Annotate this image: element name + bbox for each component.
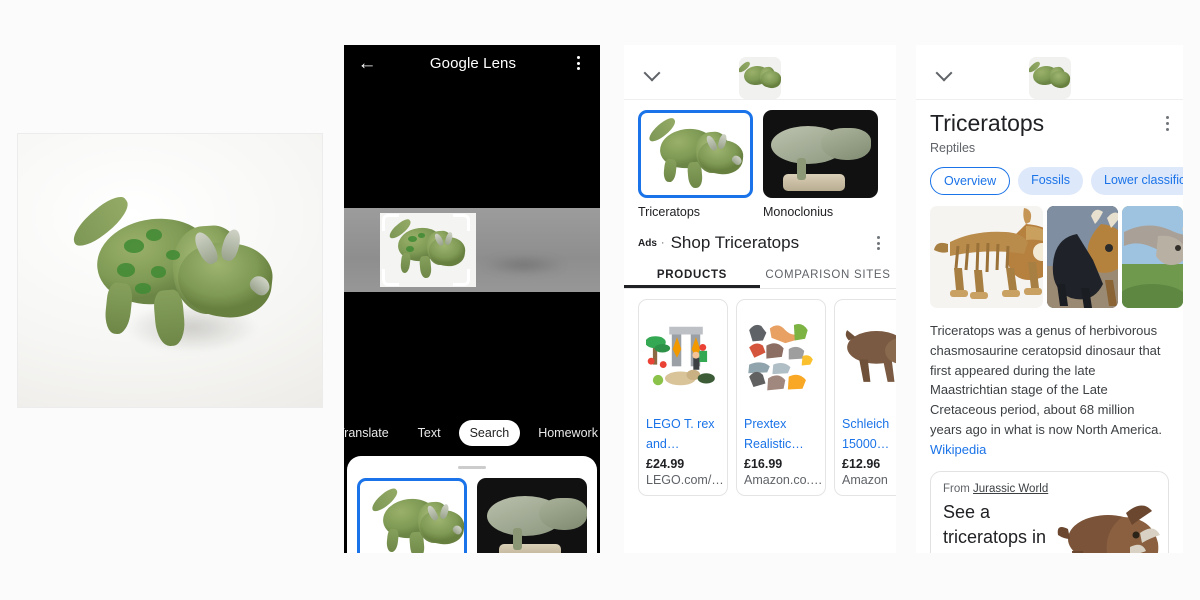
mode-homework[interactable]: Homework [527, 420, 600, 446]
lens-title-lens: Lens [479, 55, 516, 72]
dinosaur-figures-illustration [744, 310, 818, 402]
knowledge-header [916, 45, 1183, 100]
product-image-prextex [744, 308, 818, 404]
product-site: LEGO.com/… [646, 473, 720, 487]
product-site: Amazon [842, 473, 896, 487]
product-image-schleich [842, 308, 896, 404]
overflow-menu-icon[interactable] [877, 236, 882, 250]
chip-overview[interactable]: Overview [930, 167, 1010, 195]
overflow-menu-icon[interactable] [1166, 110, 1169, 131]
source-thumbnail[interactable] [1029, 57, 1071, 99]
ar-from-prefix: From [943, 483, 973, 495]
mode-text[interactable]: Text [407, 420, 452, 446]
screenshot-stage: ← Google Lens [0, 0, 1200, 600]
chevron-down-icon[interactable] [644, 65, 660, 81]
product-name[interactable]: LEGO T. rex and… [646, 414, 720, 454]
ar-promo-card[interactable]: From Jurassic World See a triceratops in… [930, 471, 1169, 553]
product-card[interactable]: LEGO T. rex and… £24.99 LEGO.com/… [638, 299, 728, 496]
lego-set-illustration [646, 310, 720, 402]
lens-title: Google Lens [378, 55, 568, 72]
shopping-title: Shop Triceratops [671, 233, 877, 253]
lens-mode-bar: Translate Text Search Homework Sh [344, 413, 600, 453]
lens-results-sheet [347, 456, 597, 553]
mode-translate[interactable]: Translate [344, 420, 400, 446]
tab-products[interactable]: PRODUCTS [624, 263, 760, 288]
source-photo [17, 133, 323, 408]
ads-badge: Ads [638, 238, 657, 249]
google-lens-screen: ← Google Lens [344, 45, 600, 553]
match-card-monoclonius[interactable]: Monoclonius [763, 110, 878, 219]
knowledge-panel: Triceratops Reptiles Overview Fossils Lo… [916, 45, 1183, 553]
overflow-menu-icon[interactable] [568, 56, 588, 70]
lens-top-bar: ← Google Lens [344, 45, 600, 81]
shopping-header: Ads · Shop Triceratops [624, 219, 896, 253]
product-carousel[interactable]: LEGO T. rex and… £24.99 LEGO.com/… [624, 289, 896, 496]
viewfinder-photo-band [344, 208, 600, 292]
sheet-result-triceratops[interactable] [357, 478, 467, 553]
image-triceratops-skeleton[interactable] [930, 206, 1043, 308]
description-text: Triceratops was a genus of herbivorous c… [930, 323, 1162, 437]
ar-card-headline: See a triceratops in your space [943, 500, 1063, 553]
product-card[interactable]: Schleich 15000… £12.96 Amazon [834, 299, 896, 496]
page-title: Triceratops [930, 110, 1044, 137]
source-thumbnail[interactable] [739, 57, 781, 99]
image-triceratops-illustration[interactable] [1047, 206, 1117, 308]
match-thumb-monoclonius [763, 110, 878, 198]
ar-triceratops-model [1056, 495, 1169, 553]
visual-match-cards: Triceratops Monoclonius [624, 100, 896, 219]
match-label-monoclonius: Monoclonius [763, 205, 878, 219]
sheet-result-cards [357, 478, 587, 553]
sheet-result-monoclonius[interactable] [477, 478, 587, 553]
knowledge-image-strip [916, 195, 1183, 308]
knowledge-subtitle: Reptiles [916, 137, 1183, 155]
ar-card-source: From Jurassic World [943, 483, 1156, 495]
viewfinder-shadow [464, 252, 584, 278]
product-price: £24.99 [646, 457, 720, 471]
tab-comparison-sites[interactable]: COMPARISON SITES [760, 263, 896, 288]
mode-search[interactable]: Search [459, 420, 521, 446]
chip-fossils[interactable]: Fossils [1018, 167, 1083, 195]
chevron-down-icon[interactable] [936, 65, 952, 81]
product-image-lego [646, 308, 720, 404]
ar-from-source: Jurassic World [973, 483, 1048, 495]
triceratops-thumb [366, 485, 467, 553]
product-name[interactable]: Prextex Realistic… [744, 414, 818, 454]
product-price: £16.99 [744, 457, 818, 471]
image-triceratops-landscape[interactable] [1122, 206, 1183, 308]
knowledge-title-row: Triceratops [916, 100, 1183, 137]
match-thumb-triceratops [638, 110, 753, 198]
object-selection-brackets[interactable] [382, 214, 470, 286]
product-price: £12.96 [842, 457, 896, 471]
shopping-tabs: PRODUCTS COMPARISON SITES [624, 263, 896, 289]
knowledge-chips: Overview Fossils Lower classificatio [916, 155, 1183, 195]
lens-title-google: Google [430, 55, 479, 72]
wikipedia-link[interactable]: Wikipedia [930, 442, 986, 457]
match-card-triceratops[interactable]: Triceratops [638, 110, 753, 219]
chip-lower-classification[interactable]: Lower classificatio [1091, 167, 1183, 195]
ads-separator: · [661, 237, 665, 249]
back-arrow-icon[interactable]: ← [356, 52, 378, 74]
product-card[interactable]: Prextex Realistic… £16.99 Amazon.co.… [736, 299, 826, 496]
toy-triceratops-illustration [61, 189, 286, 358]
schleich-dinosaur-illustration [842, 310, 896, 402]
sheet-drag-handle[interactable] [458, 466, 486, 469]
lens-results-panel: Triceratops Monoclonius Ads · Shop Trice… [624, 45, 896, 553]
product-name[interactable]: Schleich 15000… [842, 414, 896, 454]
match-label-triceratops: Triceratops [638, 205, 753, 219]
product-site: Amazon.co.… [744, 473, 818, 487]
results-header [624, 45, 896, 100]
camera-viewfinder[interactable] [344, 81, 600, 413]
knowledge-description: Triceratops was a genus of herbivorous c… [916, 308, 1183, 459]
